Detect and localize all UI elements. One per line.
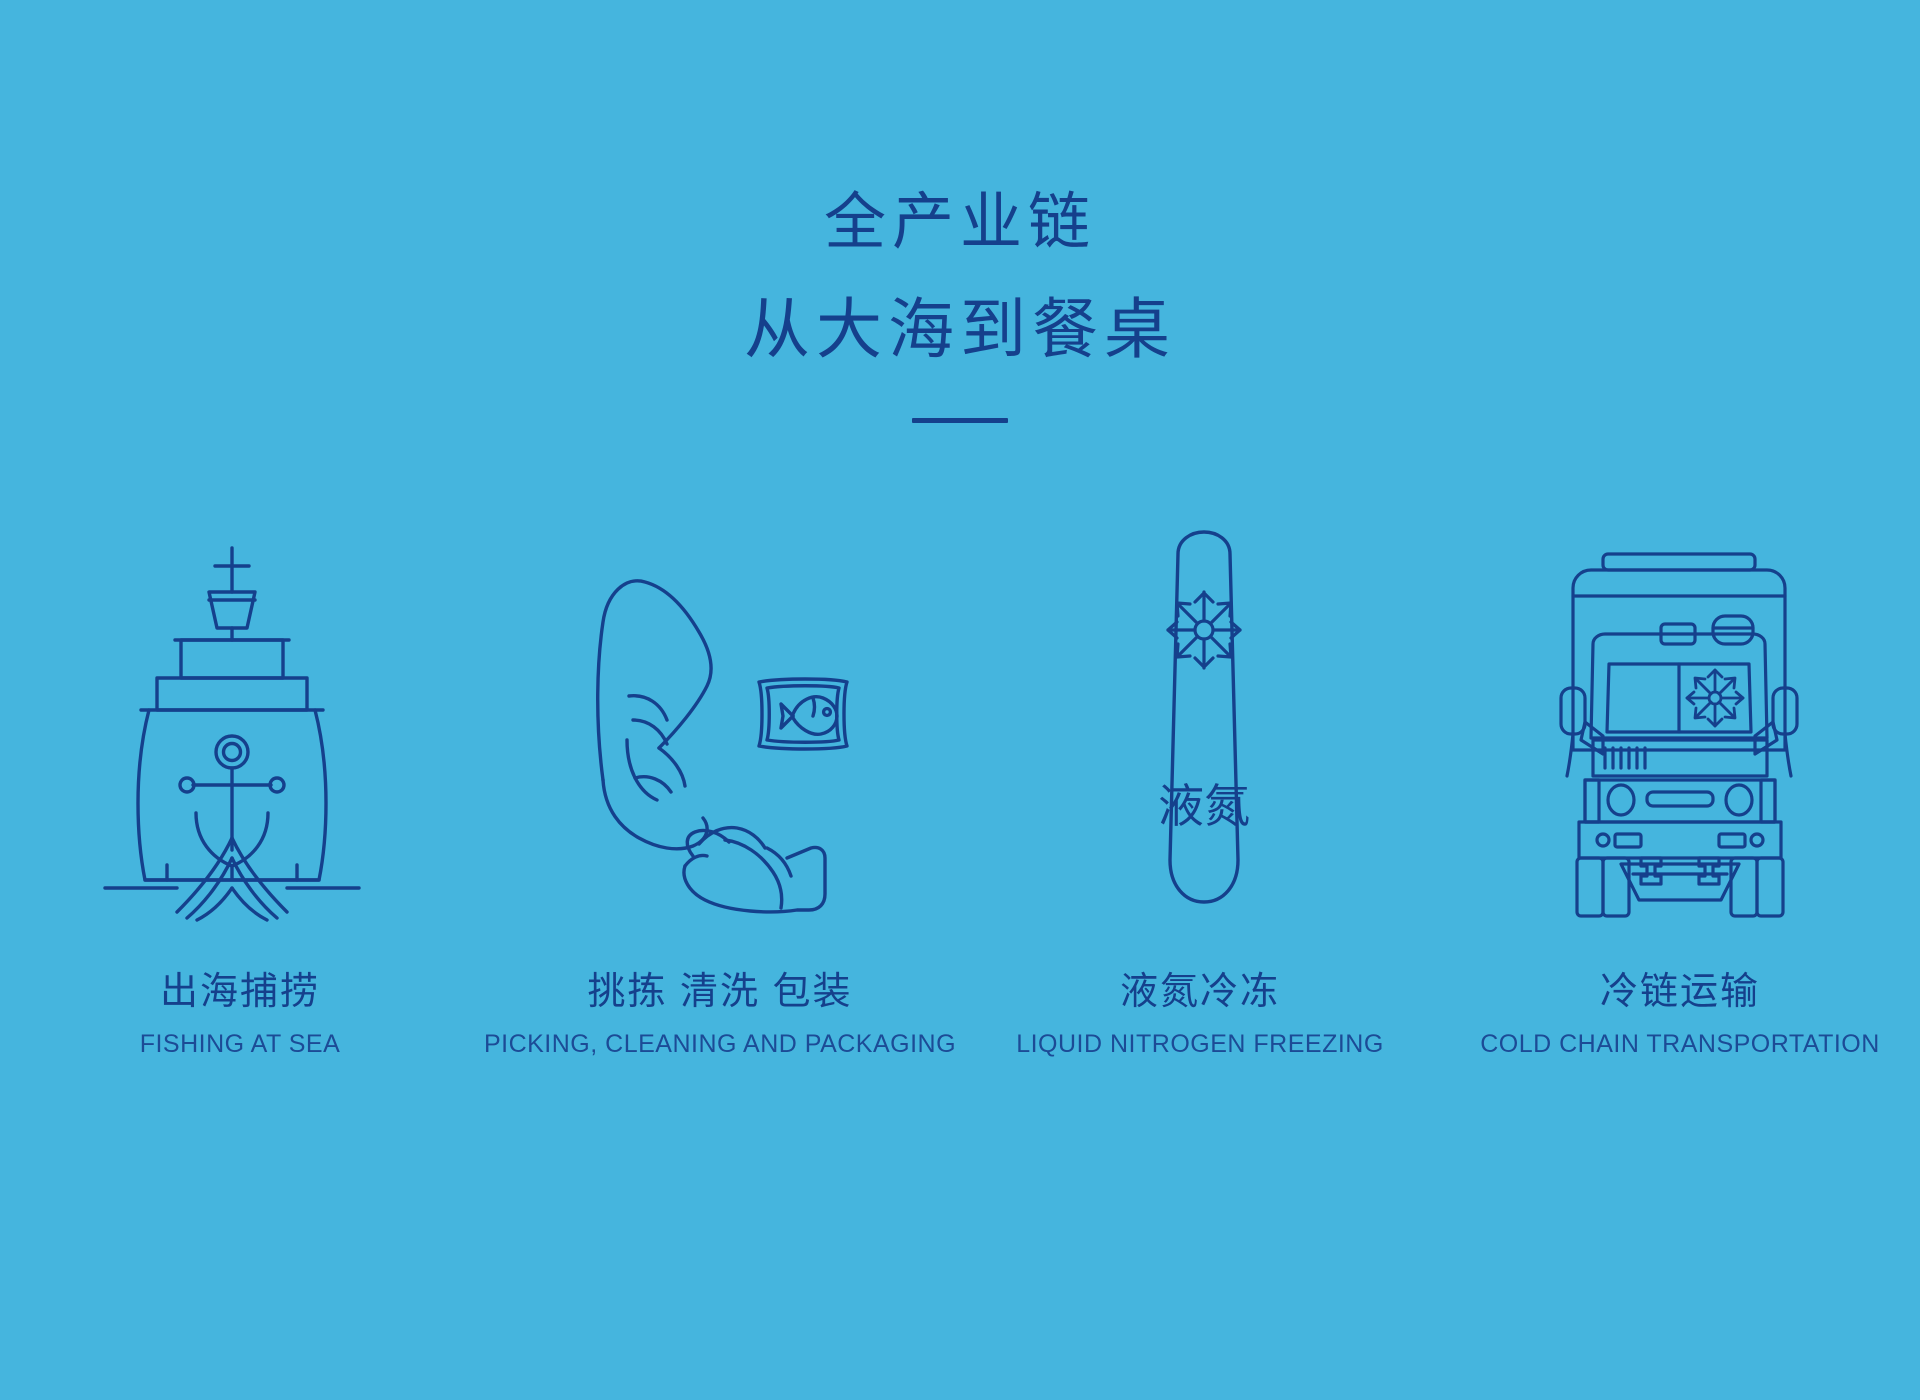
roof-beacon [1713, 616, 1753, 644]
bumper-lamp-right [1751, 834, 1763, 846]
icon-container [97, 520, 367, 920]
snowflake-icon [1168, 592, 1240, 668]
step-labels: 液氮冷冻 LIQUID NITROGEN FREEZING [1016, 968, 1384, 1064]
step-labels: 冷链运输 COLD CHAIN TRANSPORTATION [1480, 968, 1880, 1064]
step-label-en: PICKING, CLEANING AND PACKAGING [484, 1024, 956, 1064]
heading-block: 全产业链 从大海到餐桌 [0, 170, 1920, 423]
wheel-inner-left [1603, 858, 1629, 916]
headlight-right [1726, 785, 1752, 815]
step-item-cold-chain-transportation: 冷链运输 COLD CHAIN TRANSPORTATION [1440, 520, 1920, 1064]
step-labels: 出海捕捞 FISHING AT SEA [140, 968, 341, 1064]
step-item-fishing-at-sea: 出海捕捞 FISHING AT SEA [0, 520, 480, 1064]
fishing-boat-anchor-icon [97, 540, 367, 920]
icon-container [581, 520, 871, 920]
step-labels: 挑拣 清洗 包装 PICKING, CLEANING AND PACKAGING [484, 968, 956, 1064]
step-label-en: LIQUID NITROGEN FREEZING [1016, 1024, 1384, 1064]
heading-line-secondary: 从大海到餐桌 [0, 276, 1920, 382]
wheel-outer-right [1757, 858, 1783, 916]
wheel-inner-right [1731, 858, 1757, 916]
wheel-outer-left [1577, 858, 1603, 916]
step-label-cn: 出海捕捞 [140, 968, 341, 1016]
snowflake-icon [1687, 670, 1743, 726]
step-label-en: COLD CHAIN TRANSPORTATION [1480, 1024, 1880, 1064]
heading-divider [912, 418, 1008, 423]
heading-line-primary: 全产业链 [0, 170, 1920, 276]
step-label-cn: 冷链运输 [1480, 968, 1880, 1016]
dewar-text: 液氮 [1158, 780, 1250, 832]
step-item-picking-cleaning-packaging: 挑拣 清洗 包装 PICKING, CLEANING AND PACKAGING [480, 520, 960, 1064]
icon-container: 液氮 [1129, 520, 1279, 920]
poster-canvas: 全产业链 从大海到餐桌 [0, 0, 1920, 1400]
bumper-lamp-left [1597, 834, 1609, 846]
liquid-nitrogen-dewar-icon: 液氮 [1129, 530, 1279, 920]
process-steps-row: 出海捕捞 FISHING AT SEA [0, 520, 1920, 1064]
step-item-liquid-nitrogen-freezing: 液氮 液氮冷冻 LIQUID NITROGEN FREEZING [960, 520, 1440, 1064]
icon-container [1555, 520, 1825, 920]
step-label-en: FISHING AT SEA [140, 1024, 341, 1064]
divider-wrapper [0, 418, 1920, 423]
hands-fish-package-icon [581, 570, 871, 920]
headlight-left [1608, 785, 1634, 815]
step-label-cn: 挑拣 清洗 包装 [484, 968, 956, 1016]
step-label-cn: 液氮冷冻 [1016, 968, 1384, 1016]
refrigerated-truck-icon [1555, 540, 1825, 920]
